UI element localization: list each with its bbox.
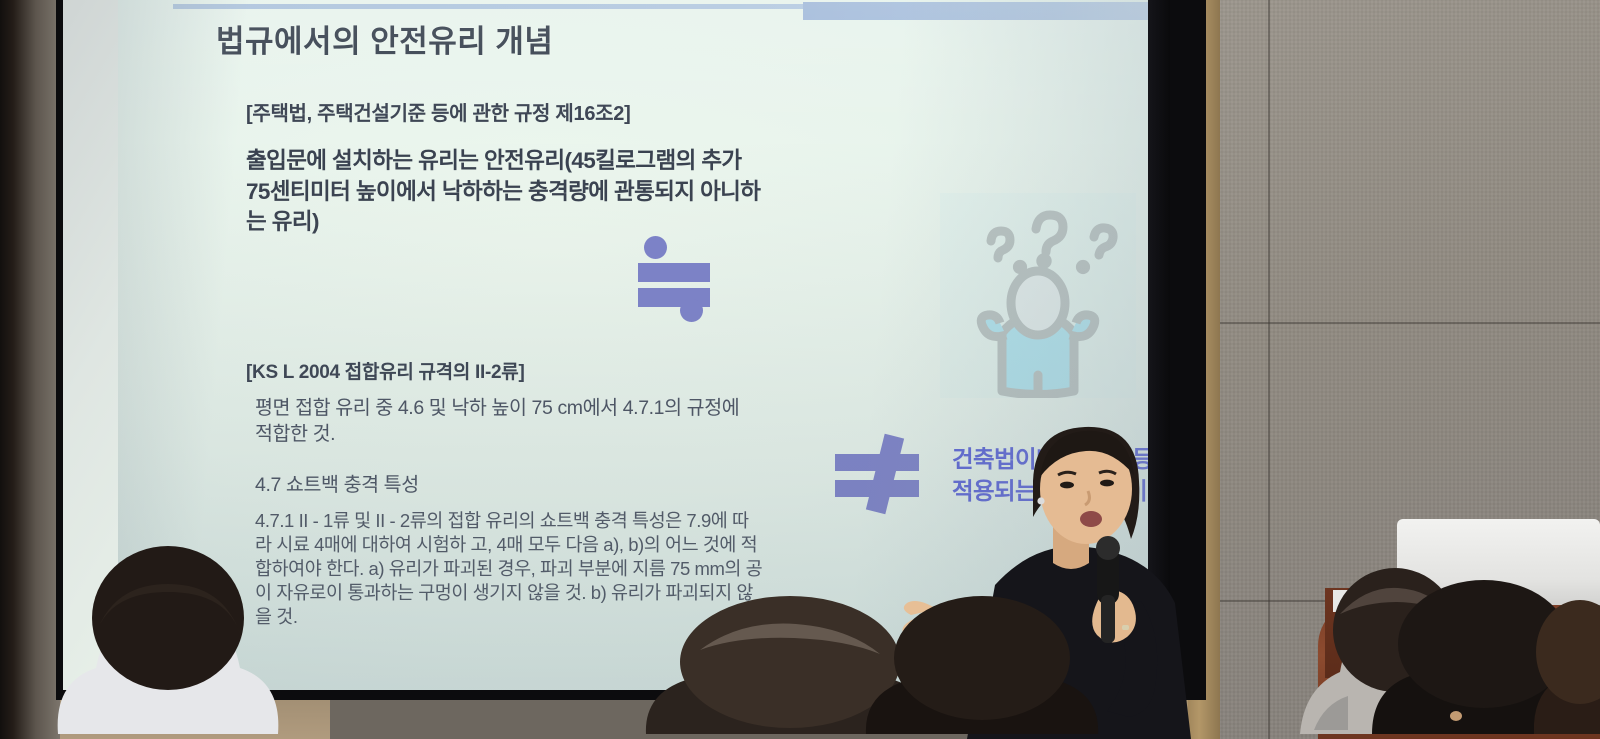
confused-person-icon bbox=[940, 193, 1136, 398]
law-body-text: 출입문에 설치하는 유리는 안전유리(45킬로그램의 추가 75센티미터 높이에… bbox=[246, 146, 766, 238]
audience-member-3 bbox=[862, 584, 1102, 739]
lecture-photo-scene: 법규에서의 안전유리 개념 [주택법, 주택건설기준 등에 관한 규정 제16조… bbox=[0, 0, 1600, 739]
ks-subsection-heading: 4.7 쇼트백 충격 특성 bbox=[255, 468, 419, 497]
audience-member-1 bbox=[48, 544, 288, 739]
audience-1-svg bbox=[48, 544, 288, 734]
ks-heading: [KS L 2004 접합유리 규격의 II-2류] bbox=[246, 357, 524, 384]
clipart-backdrop bbox=[940, 193, 1136, 398]
ks-body-text: 평면 접합 유리 중 4.6 및 낙하 높이 75 cm에서 4.7.1의 규정… bbox=[255, 396, 755, 448]
divide-symbol bbox=[638, 236, 710, 322]
slide-top-accent-block bbox=[803, 2, 1148, 20]
wall-seam-vertical bbox=[1268, 0, 1270, 739]
wall-seam-horizontal-top bbox=[1215, 322, 1600, 324]
audience-6-svg bbox=[1534, 584, 1600, 734]
divide-bar-upper bbox=[638, 263, 710, 282]
law-heading: [주택법, 주택건설기준 등에 관한 규정 제16조2] bbox=[246, 97, 630, 126]
audience-3-svg bbox=[862, 584, 1102, 734]
divide-dot-top bbox=[644, 236, 667, 259]
divide-dot-bottom bbox=[680, 299, 703, 322]
slide-title: 법규에서의 안전유리 개념 bbox=[216, 16, 553, 61]
audience-member-6 bbox=[1534, 584, 1600, 739]
